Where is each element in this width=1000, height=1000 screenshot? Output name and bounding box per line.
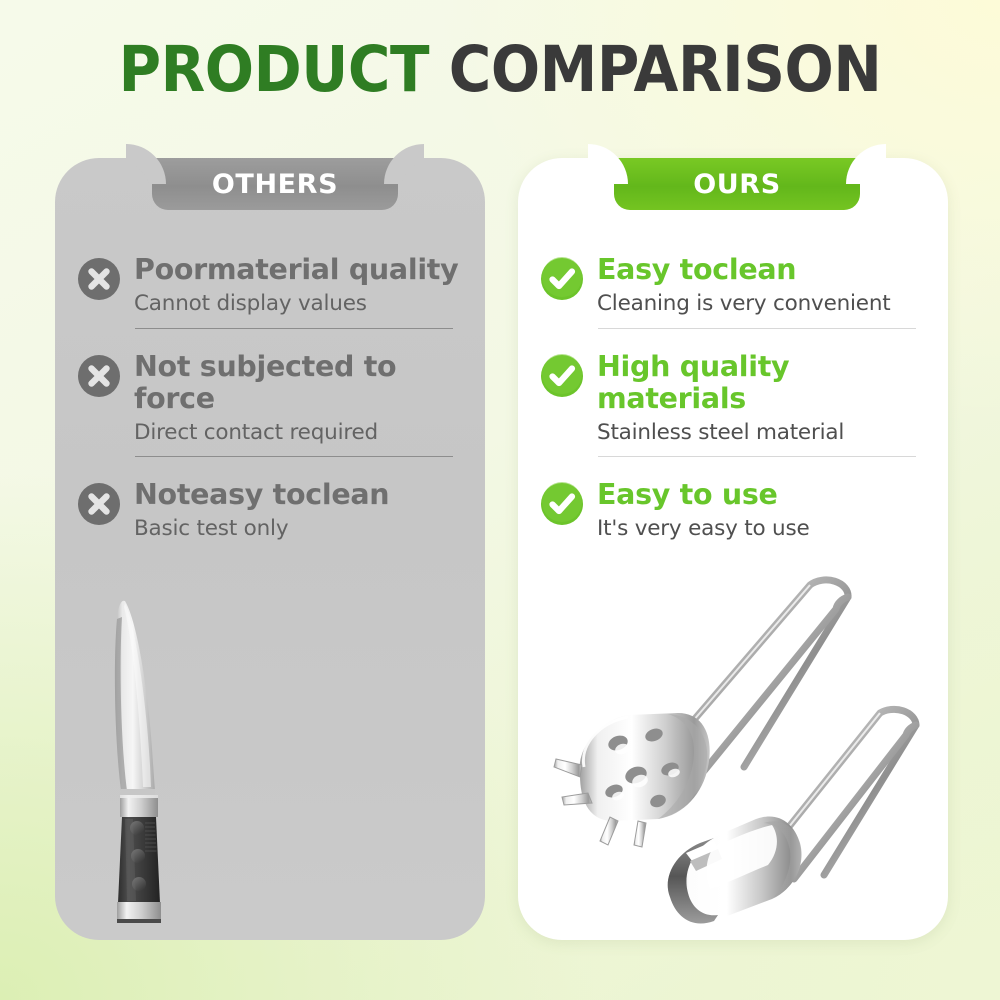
list-item-subtitle: Cleaning is very convenient: [597, 291, 926, 317]
list-item-text: Easy toclean Cleaning is very convenient: [597, 254, 926, 317]
list-item-text: Not subjected to force Direct contact re…: [134, 351, 463, 446]
list-item: Not subjected to force Direct contact re…: [77, 351, 463, 458]
list-item-text: Easy to use It's very easy to use: [597, 479, 926, 542]
tab-ours[interactable]: OURS: [614, 158, 860, 210]
list-item-subtitle: Cannot display values: [134, 291, 463, 317]
list-item-text: Poormaterial quality Cannot display valu…: [134, 254, 463, 317]
cross-circle-icon: [77, 257, 121, 301]
list-item: Noteasy toclean Basic test only: [77, 479, 463, 554]
page-title: PRODUCT COMPARISON: [40, 38, 960, 101]
list-item-text: Noteasy toclean Basic test only: [134, 479, 463, 542]
cross-circle-icon: [77, 482, 121, 526]
others-feature-list: Poormaterial quality Cannot display valu…: [55, 254, 485, 554]
chef-knife-image: [55, 573, 485, 933]
list-divider: [598, 328, 916, 329]
cross-circle-icon: [77, 354, 121, 398]
list-item-text: High quality materials Stainless steel m…: [597, 351, 926, 446]
list-item-title: Not subjected to force: [134, 350, 396, 415]
list-item: Poormaterial quality Cannot display valu…: [77, 254, 463, 329]
list-item-title: Noteasy toclean: [134, 478, 389, 511]
tab-others[interactable]: OTHERS: [152, 158, 398, 210]
list-item-title: Poormaterial quality: [134, 253, 458, 286]
list-divider: [135, 328, 453, 329]
list-item-subtitle: Basic test only: [134, 516, 463, 542]
check-circle-icon: [540, 482, 584, 526]
list-item: Easy to use It's very easy to use: [540, 479, 926, 554]
page-title-part-one: PRODUCT: [119, 33, 429, 106]
list-item-subtitle: It's very easy to use: [597, 516, 926, 542]
ours-feature-list: Easy toclean Cleaning is very convenient…: [518, 254, 948, 554]
list-item-title: Easy toclean: [597, 253, 796, 286]
tab-others-label: OTHERS: [212, 169, 338, 200]
list-item-subtitle: Direct contact required: [134, 420, 463, 446]
others-column-card: Poormaterial quality Cannot display valu…: [55, 158, 485, 940]
list-item: Easy toclean Cleaning is very convenient: [540, 254, 926, 329]
list-item-subtitle: Stainless steel material: [597, 420, 926, 446]
list-divider: [598, 456, 916, 457]
list-divider: [135, 456, 453, 457]
page-title-part-two: COMPARISON: [449, 33, 882, 106]
list-item-title: Easy to use: [597, 478, 778, 511]
product-comparison-infographic: PRODUCT COMPARISON Poormaterial quality …: [0, 0, 1000, 1000]
tab-ours-label: OURS: [693, 169, 781, 200]
list-item-title: High quality materials: [597, 350, 789, 415]
check-circle-icon: [540, 257, 584, 301]
stainless-steel-tongs-image: [518, 553, 948, 938]
check-circle-icon: [540, 354, 584, 398]
list-item: High quality materials Stainless steel m…: [540, 351, 926, 458]
ours-column-card: Easy toclean Cleaning is very convenient…: [518, 158, 948, 940]
